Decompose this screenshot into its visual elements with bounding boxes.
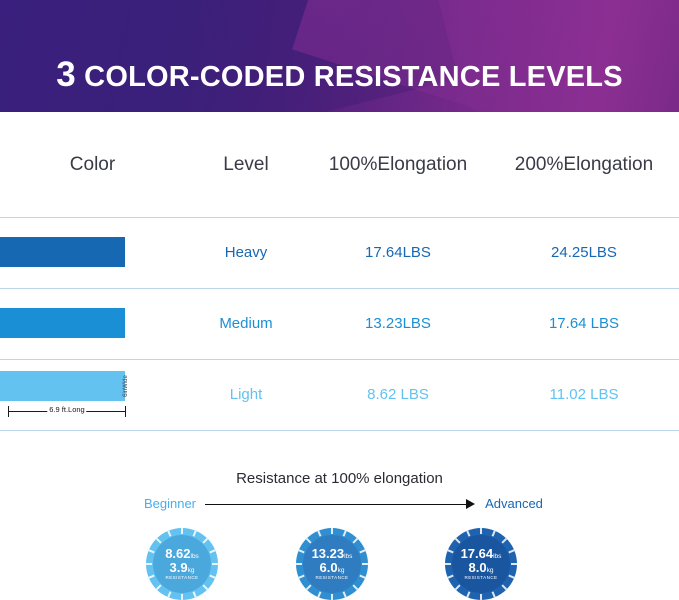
level-heavy: Heavy <box>185 244 307 261</box>
badge-lbs-unit: lbs <box>344 553 352 560</box>
header-banner: 3 COLOR-CODED RESISTANCE LEVELS <box>0 0 679 112</box>
badge-inner: 8.62lbs 3.9kg RESISTANCE <box>153 535 211 593</box>
color-swatch-medium <box>0 308 125 338</box>
badge-lbs-unit: lbs <box>493 553 501 560</box>
scale-label-beginner: Beginner <box>130 496 210 511</box>
badge-lbs-value: 17.64lbs <box>461 547 502 561</box>
column-header-100-elongation: 100%Elongation <box>307 154 489 176</box>
page-title: 3 COLOR-CODED RESISTANCE LEVELS <box>0 55 679 95</box>
e200-heavy: 24.25LBS <box>489 244 679 261</box>
badge-lbs-unit: lbs <box>191 553 199 560</box>
e100-heavy: 17.64LBS <box>307 244 489 261</box>
badge-inner: 17.64lbs 8.0kg RESISTANCE <box>452 535 510 593</box>
length-annotation: 6.9 ft.Long <box>8 405 126 419</box>
table-row: Heavy 17.64LBS 24.25LBS <box>0 217 679 288</box>
badge-inner: 13.23lbs 6.0kg RESISTANCE <box>303 535 361 593</box>
scale-label-advanced: Advanced <box>472 496 556 511</box>
length-cap-left <box>8 406 9 417</box>
level-light: Light <box>185 386 307 403</box>
resistance-badge-heavy: 17.64lbs 8.0kg RESISTANCE <box>445 528 517 600</box>
title-number: 3 <box>56 55 76 94</box>
infographic-page: 3 COLOR-CODED RESISTANCE LEVELS Color Le… <box>0 0 679 599</box>
resistance-table: Color Level 100%Elongation 200%Elongatio… <box>0 112 679 430</box>
column-header-color: Color <box>0 154 185 176</box>
badge-caption: RESISTANCE <box>165 576 198 581</box>
table-header-row: Color Level 100%Elongation 200%Elongatio… <box>0 112 679 217</box>
badge-kg-unit: kg <box>188 567 195 574</box>
color-cell-light: 6inWide 6.9 ft.Long <box>0 359 185 430</box>
table-row: Medium 13.23LBS 17.64 LBS <box>0 288 679 359</box>
badge-caption: RESISTANCE <box>315 576 348 581</box>
badge-kg-value: 6.0kg <box>320 561 345 575</box>
resistance-scale-section: Resistance at 100% elongation Beginner A… <box>0 430 679 599</box>
resistance-badge-light: 8.62lbs 3.9kg RESISTANCE <box>146 528 218 600</box>
resistance-badge-medium: 13.23lbs 6.0kg RESISTANCE <box>296 528 368 600</box>
scale-title: Resistance at 100% elongation <box>0 470 679 487</box>
color-cell-heavy <box>0 217 185 288</box>
e100-light: 8.62 LBS <box>307 386 489 403</box>
color-cell-medium <box>0 288 185 359</box>
badge-lbs-value: 8.62lbs <box>165 547 199 561</box>
e100-medium: 13.23LBS <box>307 315 489 332</box>
column-header-200-elongation: 200%Elongation <box>489 154 679 176</box>
width-annotation: 6inWide <box>118 369 134 403</box>
e200-light: 11.02 LBS <box>489 386 679 403</box>
e200-medium: 17.64 LBS <box>489 315 679 332</box>
badge-caption: RESISTANCE <box>464 576 497 581</box>
level-medium: Medium <box>185 315 307 332</box>
badge-kg-unit: kg <box>487 567 494 574</box>
table-row: 6inWide 6.9 ft.Long Light 8.62 LBS 11.02… <box>0 359 679 430</box>
title-text: COLOR-CODED RESISTANCE LEVELS <box>84 61 623 93</box>
badge-kg-value: 3.9kg <box>170 561 195 575</box>
length-cap-right <box>125 406 126 417</box>
badge-kg-unit: kg <box>338 567 345 574</box>
scale-arrow-line <box>205 504 470 505</box>
badge-lbs-value: 13.23lbs <box>312 547 353 561</box>
color-swatch-heavy <box>0 237 125 267</box>
length-label: 6.9 ft.Long <box>47 405 86 414</box>
badge-kg-value: 8.0kg <box>469 561 494 575</box>
column-header-level: Level <box>185 154 307 176</box>
color-swatch-light <box>0 371 125 401</box>
